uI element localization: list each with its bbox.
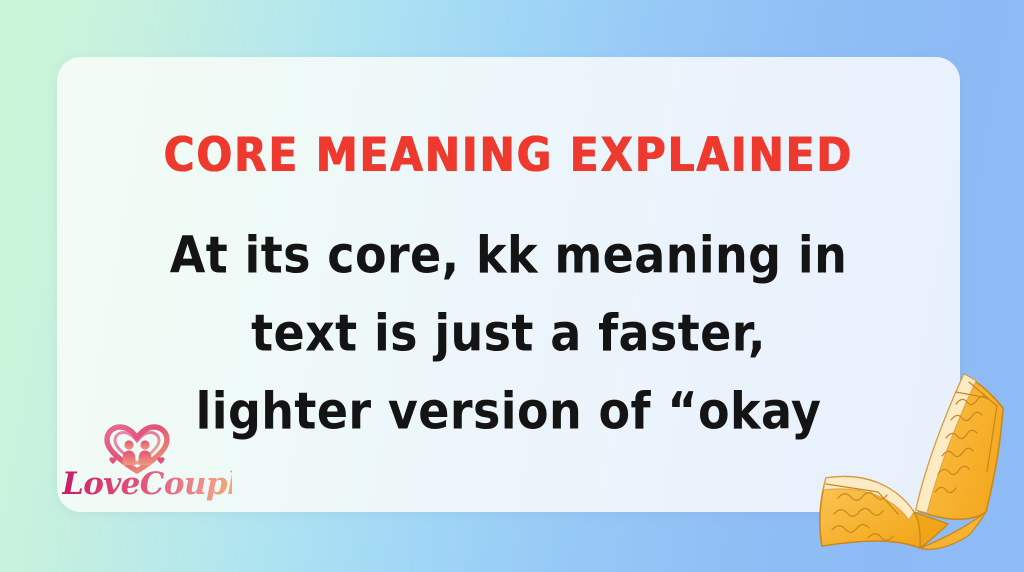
open-book-icon (796, 360, 1021, 565)
poster-canvas: CORE MEANING EXPLAINED At its core, kk m… (0, 0, 1024, 572)
brand-logo[interactable]: LoveCouplez (62, 424, 232, 508)
brand-wordmark: LoveCouplez (62, 464, 232, 504)
